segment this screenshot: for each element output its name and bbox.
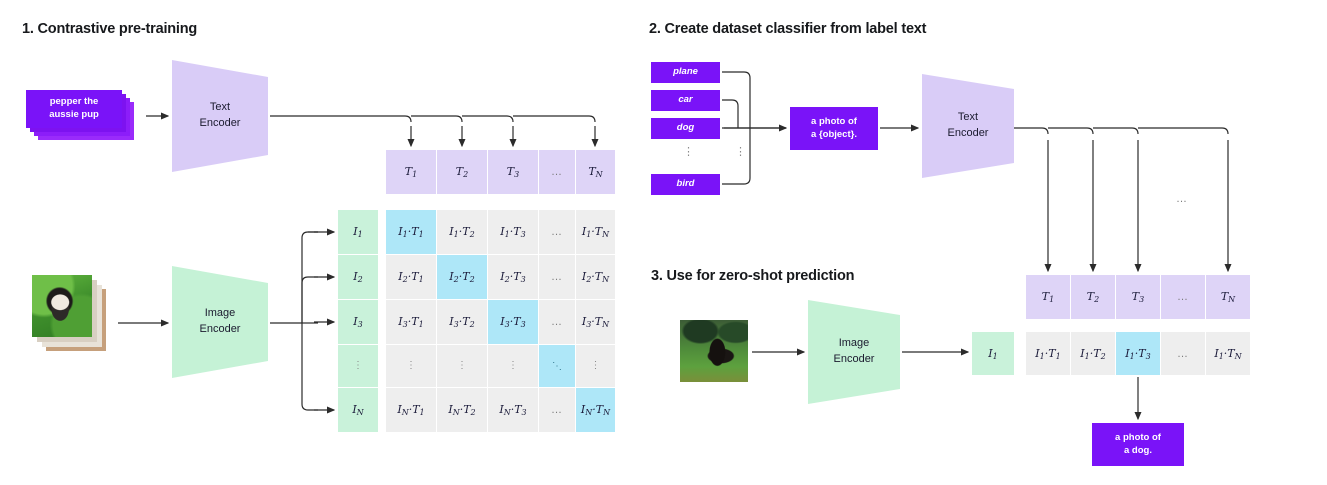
section-1-title: 1. Contrastive pre-training [22, 21, 197, 37]
caption-line-2: aussie pup [49, 109, 99, 122]
t-output-cell-1: T1 [1026, 275, 1070, 319]
t-header-label: T1 [405, 165, 417, 179]
text-encoder-1-line-2: Encoder [200, 117, 241, 129]
matrix-cell: I1·T2 [437, 210, 487, 254]
matrix-cell: … [539, 388, 575, 432]
text-encoder-2: Text Encoder [922, 74, 1014, 178]
image-encoder-1: Image Encoder [172, 266, 268, 378]
image-encoder-3-line-1: Image [839, 337, 870, 349]
label-box-bird: bird [651, 174, 720, 195]
matrix-cell: IN·T2 [437, 388, 487, 432]
prompt-line-2: a {object}. [811, 129, 857, 142]
score-cell-ellipsis: … [1161, 332, 1205, 375]
matrix-cell: IN·T3 [488, 388, 538, 432]
label-list-ellipsis: ⋮ [683, 148, 694, 157]
t-header-cell-n: TN [576, 150, 615, 194]
label-text: dog [677, 122, 694, 135]
t-output-cell-3: T3 [1116, 275, 1160, 319]
matrix-cell: IN·T1 [386, 388, 436, 432]
prompt-template-box: a photo of a {object}. [790, 107, 878, 150]
image-encoder-1-line-1: Image [205, 307, 236, 319]
i-feature-cell-3: I3 [338, 300, 378, 344]
vertical-ellipsis: ⋮ [353, 362, 363, 370]
matrix-cell: ⋮ [576, 345, 615, 387]
text-encoder-2-line-2: Encoder [948, 127, 989, 139]
image-encoder-3-line-2: Encoder [834, 353, 875, 365]
section-3-title: 3. Use for zero-shot prediction [651, 268, 854, 284]
i-feature-label: I2 [353, 270, 362, 284]
matrix-cell: I2·T3 [488, 255, 538, 299]
t-output-cell-2: T2 [1071, 275, 1115, 319]
prediction-line-2: a dog. [1124, 445, 1152, 458]
t-header-cell-3: T3 [488, 150, 538, 194]
matrix-cell: … [539, 255, 575, 299]
caption-box: pepper the aussie pup [26, 90, 122, 128]
image-encoder-1-line-2: Encoder [200, 323, 241, 335]
i-feature-label: IN [352, 403, 363, 417]
label-box-plane: plane [651, 62, 720, 83]
i-feature-cell-query: I1 [972, 332, 1014, 375]
prediction-line-1: a photo of [1115, 432, 1161, 445]
matrix-cell: I3·T2 [437, 300, 487, 344]
fanout-ellipsis: … [1176, 193, 1188, 205]
score-cell-2: I1·T2 [1071, 332, 1115, 375]
score-cell-1: I1·T1 [1026, 332, 1070, 375]
t-header-cell-ellipsis: … [539, 150, 575, 194]
aussie-pup-photo-stack [32, 275, 110, 359]
label-box-dog: dog [651, 118, 720, 139]
caption-line-1: pepper the [50, 96, 99, 109]
text-encoder-2-line-1: Text [958, 111, 978, 123]
t-header-cell-2: T2 [437, 150, 487, 194]
aussie-pup-photo [32, 275, 92, 337]
matrix-cell: I1·TN [576, 210, 615, 254]
t-output-cell-ellipsis: … [1161, 275, 1205, 319]
section-2-title: 2. Create dataset classifier from label … [649, 21, 926, 37]
i-feature-cell-ellipsis: ⋮ [338, 345, 378, 387]
i-feature-cell-1: I1 [338, 210, 378, 254]
label-text: car [678, 94, 692, 107]
matrix-cell: I3·TN [576, 300, 615, 344]
t-header-label: TN [588, 165, 602, 179]
matrix-cell: I1·T3 [488, 210, 538, 254]
label-box-car: car [651, 90, 720, 111]
label-text: bird [677, 178, 695, 191]
matrix-cell: I1·T1 [386, 210, 436, 254]
t-header-label: T3 [507, 165, 519, 179]
label-fanout-ellipsis: ⋮ [735, 148, 746, 157]
t-header-cell-1: T1 [386, 150, 436, 194]
caption-box-stack: pepper the aussie pup [26, 90, 138, 145]
label-text: plane [673, 66, 698, 79]
matrix-cell: ⋮ [488, 345, 538, 387]
text-encoder-1-label: Text Encoder [200, 100, 241, 132]
image-encoder-1-label: Image Encoder [200, 306, 241, 338]
i-feature-label: I1 [353, 225, 362, 239]
matrix-cell: I3·T3 [488, 300, 538, 344]
i-feature-cell-2: I2 [338, 255, 378, 299]
score-cell-3: I1·T3 [1116, 332, 1160, 375]
query-dog-photo [680, 320, 748, 382]
matrix-cell: I3·T1 [386, 300, 436, 344]
i-feature-label: I3 [353, 315, 362, 329]
matrix-cell: IN·TN [576, 388, 615, 432]
matrix-cell: I2·TN [576, 255, 615, 299]
image-encoder-3: Image Encoder [808, 300, 900, 404]
text-encoder-2-label: Text Encoder [948, 110, 989, 142]
matrix-cell: … [539, 210, 575, 254]
prediction-box: a photo of a dog. [1092, 423, 1184, 466]
image-encoder-3-label: Image Encoder [834, 336, 875, 368]
text-encoder-1: Text Encoder [172, 60, 268, 172]
matrix-cell: ⋱ [539, 345, 575, 387]
ellipsis: … [551, 166, 563, 178]
i-feature-cell-n: IN [338, 388, 378, 432]
prompt-line-1: a photo of [811, 116, 857, 129]
matrix-cell: ⋮ [437, 345, 487, 387]
score-cell-n: I1·TN [1206, 332, 1250, 375]
matrix-cell: I2·T2 [437, 255, 487, 299]
matrix-cell: I2·T1 [386, 255, 436, 299]
t-output-cell-n: TN [1206, 275, 1250, 319]
matrix-cell: ⋮ [386, 345, 436, 387]
text-encoder-1-line-1: Text [210, 101, 230, 113]
matrix-cell: … [539, 300, 575, 344]
t-header-label: T2 [456, 165, 468, 179]
